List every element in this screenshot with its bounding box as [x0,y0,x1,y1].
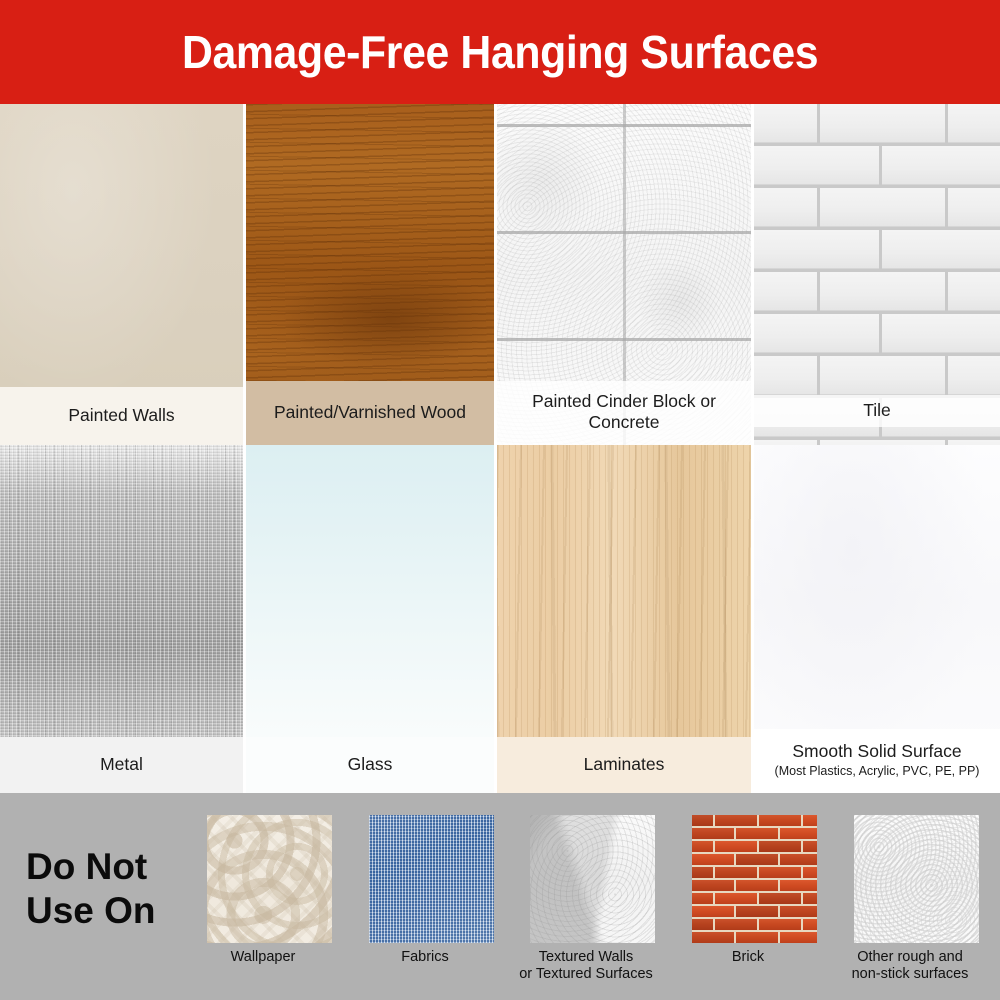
surface-label-smooth-solid: Smooth Solid Surface (Most Plastics, Acr… [754,729,1000,793]
tile-course [754,188,938,230]
tile-unit [882,146,1000,185]
surfaces-row-1: Painted Walls Painted/Varnished Wood Pai… [0,104,1000,445]
header-banner: Damage-Free Hanging Surfaces [0,0,1000,104]
brick-unit [736,932,778,943]
brick-unit [715,815,757,826]
brick-unit [692,906,734,917]
do-not-use-caption-brick: Brick [673,949,823,966]
tile-unit [820,104,945,143]
brick-course [692,932,817,943]
brick-unit [803,919,817,930]
brick-course [692,906,817,919]
tile-course [754,146,1000,188]
surface-panel-glass: Glass [246,445,494,793]
tile-unit [882,230,1000,269]
brick-course [692,880,817,893]
brick-unit [780,854,817,865]
damask-wallpaper-swatch [207,815,332,943]
tile-unit [948,104,1000,143]
brick-course [692,841,796,854]
brick-course [692,815,796,828]
tile-unit [754,314,879,353]
brick-unit [759,893,801,904]
do-not-use-title: Do Not Use On [26,845,156,933]
infographic-page: Damage-Free Hanging Surfaces Painted Wal… [0,0,1000,1000]
tile-unit [820,272,945,311]
tile-unit [754,272,817,311]
brick-unit [803,815,817,826]
do-not-use-caption-rough-surfaces: Other rough and non-stick surfaces [835,949,985,983]
surface-panel-varnished-wood: Painted/Varnished Wood [246,104,494,445]
brick-unit [759,841,801,852]
brick-unit [715,841,757,852]
brick-unit [692,815,713,826]
brick-unit [692,919,713,930]
brick-unit [780,932,817,943]
brick-unit [780,880,817,891]
surface-label-metal: Metal [0,737,243,793]
surface-label-varnished-wood: Painted/Varnished Wood [246,381,494,445]
brick-course [692,854,817,867]
brick-course [692,919,796,932]
surfaces-row-2: Metal Glass Laminates Smooth Solid Surfa… [0,445,1000,793]
tile-course [754,230,1000,272]
brick-unit [759,867,801,878]
surface-label-cinder-block: Painted Cinder Block or Concrete [497,381,751,445]
brick-unit [692,854,734,865]
tile-unit [754,146,879,185]
tile-unit [948,356,1000,395]
brick-unit [692,867,713,878]
brick-unit [715,919,757,930]
brick-unit [715,893,757,904]
do-not-use-item-textured-walls: Textured Walls or Textured Surfaces [523,815,661,983]
do-not-use-item-fabrics: Fabrics [362,815,500,966]
knockdown-texture-swatch [530,815,655,943]
tile-course [754,356,938,398]
do-not-use-item-rough-surfaces: Other rough and non-stick surfaces [847,815,985,983]
do-not-use-section: Do Not Use On Wallpaper Fabrics Textured… [0,793,1000,1000]
brick-unit [736,906,778,917]
brick-course [692,828,817,841]
do-not-use-item-wallpaper: Wallpaper [200,815,338,966]
surface-panel-tile: Tile [754,104,1000,445]
tile-course [754,104,938,146]
tile-unit [754,104,817,143]
brick-unit [736,880,778,891]
brick-unit [759,919,801,930]
tile-unit [820,188,945,227]
surface-panel-smooth-solid: Smooth Solid Surface (Most Plastics, Acr… [754,445,1000,793]
page-title: Damage-Free Hanging Surfaces [182,25,818,79]
surface-panel-painted-walls: Painted Walls [0,104,243,445]
surface-label-laminates: Laminates [497,737,751,793]
do-not-use-item-brick: Brick [685,815,823,966]
surface-label-smooth-solid-sub: (Most Plastics, Acrylic, PVC, PE, PP) [775,763,980,779]
brick-course [692,867,796,880]
do-not-use-caption-textured-walls: Textured Walls or Textured Surfaces [511,949,661,983]
surface-label-glass: Glass [246,737,494,793]
brick-unit [692,932,734,943]
brick-unit [736,828,778,839]
do-not-use-caption-wallpaper: Wallpaper [188,949,338,966]
brick-unit [759,815,801,826]
brick-unit [803,867,817,878]
brick-unit [692,893,713,904]
tile-unit [948,188,1000,227]
surface-panel-cinder-block: Painted Cinder Block or Concrete [497,104,751,445]
brick-unit [780,906,817,917]
brick-course [692,893,796,906]
brick-unit [692,841,713,852]
subway-tile-texture [754,104,1000,445]
woven-denim-swatch [369,815,494,943]
surface-panel-laminates: Laminates [497,445,751,793]
tile-unit [754,188,817,227]
brick-unit [692,880,734,891]
red-brick-swatch [692,815,817,943]
brick-unit [736,854,778,865]
brick-unit [692,828,734,839]
brick-unit [715,867,757,878]
surface-label-smooth-solid-main: Smooth Solid Surface [792,741,961,762]
tile-unit [820,356,945,395]
tile-course [754,314,1000,356]
tile-unit [754,356,817,395]
do-not-use-caption-fabrics: Fabrics [350,949,500,966]
rough-stipple-swatch [854,815,979,943]
brick-unit [803,893,817,904]
brick-unit [803,841,817,852]
tile-unit [882,314,1000,353]
tile-unit [948,272,1000,311]
approved-surfaces-grid: Painted Walls Painted/Varnished Wood Pai… [0,104,1000,793]
surface-panel-metal: Metal [0,445,243,793]
tile-unit [754,230,879,269]
surface-label-tile: Tile [754,395,1000,427]
tile-course [754,272,938,314]
surface-label-painted-walls: Painted Walls [0,387,243,445]
brick-unit [780,828,817,839]
